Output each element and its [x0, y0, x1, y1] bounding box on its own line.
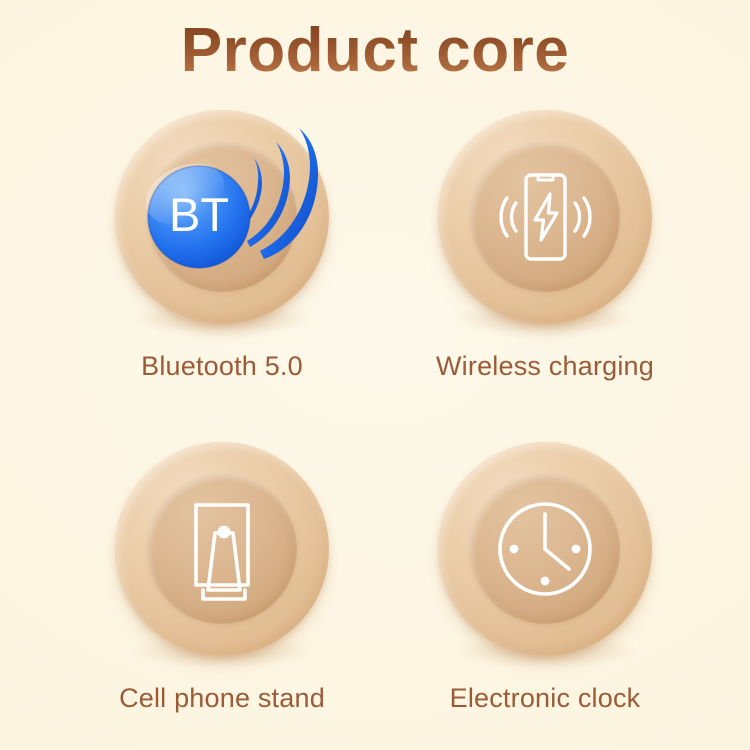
feature-label: Wireless charging	[385, 351, 705, 382]
feature-card-electronic-clock[interactable]: Electronic clock	[385, 440, 705, 740]
feature-grid: BT Bluetooth 5.0	[0, 108, 750, 748]
feature-label: Bluetooth 5.0	[62, 351, 382, 382]
feature-card-phone-stand[interactable]: Cell phone stand	[62, 440, 382, 740]
feature-label: Electronic clock	[385, 683, 705, 714]
page-title: Product core	[0, 12, 750, 90]
feature-card-bluetooth[interactable]: BT Bluetooth 5.0	[62, 108, 382, 408]
svg-text:BT: BT	[169, 188, 229, 241]
feature-label: Cell phone stand	[62, 683, 382, 714]
feature-card-wireless-charging[interactable]: Wireless charging	[385, 108, 705, 408]
phone-stand-icon	[115, 442, 329, 656]
bluetooth-bt-sphere-icon: BT	[115, 110, 329, 324]
product-core-infographic: Product core	[0, 0, 750, 750]
wireless-charging-phone-icon	[438, 110, 652, 324]
clock-icon	[438, 442, 652, 656]
